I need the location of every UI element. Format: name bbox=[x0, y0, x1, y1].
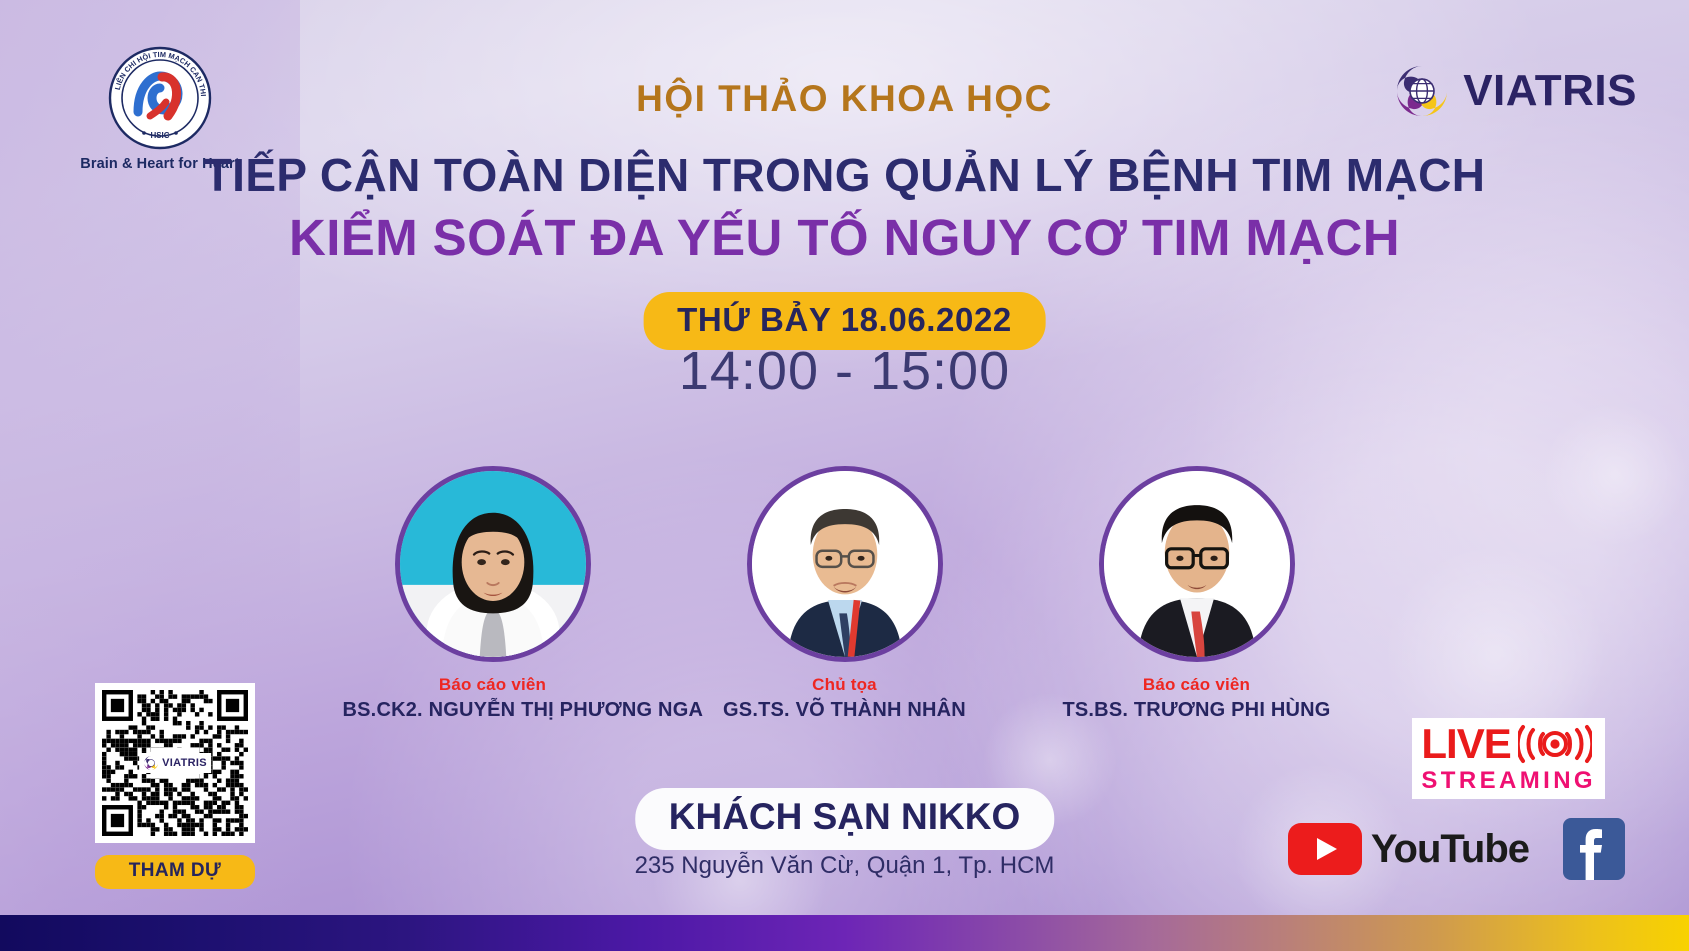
speaker-role: Báo cáo viên bbox=[1047, 675, 1347, 695]
live-label: LIVE bbox=[1421, 723, 1510, 765]
qr-center-brand: VIATRIS bbox=[139, 753, 211, 773]
venue-name: KHÁCH SẠN NIKKO bbox=[635, 788, 1055, 850]
event-title-line-1: TIẾP CẬN TOÀN DIỆN TRONG QUẢN LÝ BỆNH TI… bbox=[0, 148, 1689, 202]
live-signal-icon bbox=[1518, 721, 1592, 767]
broadcast-channels: YouTube bbox=[1288, 818, 1625, 880]
speaker-role: Báo cáo viên bbox=[343, 675, 643, 695]
speaker-name: BS.CK2. NGUYỄN THỊ PHƯƠNG NGA bbox=[343, 699, 643, 722]
speaker-role: Chủ tọa bbox=[695, 675, 995, 695]
youtube-channel[interactable]: YouTube bbox=[1288, 823, 1529, 875]
youtube-label: YouTube bbox=[1371, 827, 1529, 872]
event-time-range: 14:00 - 15:00 bbox=[0, 340, 1689, 402]
speaker-card: Báo cáo viên TS.BS. TRƯƠNG PHI HÙNG bbox=[1047, 466, 1347, 722]
speaker-card: Báo cáo viên BS.CK2. NGUYỄN THỊ PHƯƠNG N… bbox=[343, 466, 643, 722]
viatris-globe-icon bbox=[143, 755, 159, 771]
live-streaming-badge: LIVE STREAMING bbox=[1412, 718, 1605, 799]
event-title-line-2: KIỂM SOÁT ĐA YẾU TỐ NGUY CƠ TIM MẠCH bbox=[0, 208, 1689, 267]
speaker-photo-nguyen-thi-phuong-nga bbox=[395, 466, 591, 662]
streaming-label: STREAMING bbox=[1421, 769, 1596, 793]
svg-text:HSIC: HSIC bbox=[150, 131, 169, 140]
registration-block: VIATRIS THAM DỰ bbox=[95, 683, 255, 889]
footer-gradient-bar bbox=[0, 915, 1689, 951]
speaker-name: TS.BS. TRƯƠNG PHI HÙNG bbox=[1047, 699, 1347, 722]
speaker-name: GS.TS. VÕ THÀNH NHÂN bbox=[695, 699, 995, 722]
speaker-photo-truong-phi-hung bbox=[1099, 466, 1295, 662]
youtube-icon bbox=[1288, 823, 1362, 875]
qr-code-icon[interactable]: VIATRIS bbox=[95, 683, 255, 843]
register-button[interactable]: THAM DỰ bbox=[95, 855, 255, 889]
speaker-photo-vo-thanh-nhan bbox=[747, 466, 943, 662]
facebook-icon[interactable] bbox=[1563, 818, 1625, 880]
speaker-card: Chủ tọa GS.TS. VÕ THÀNH NHÂN bbox=[695, 466, 995, 722]
event-kicker: HỘI THẢO KHOA HỌC bbox=[0, 78, 1689, 120]
qr-brand-label: VIATRIS bbox=[162, 757, 207, 769]
